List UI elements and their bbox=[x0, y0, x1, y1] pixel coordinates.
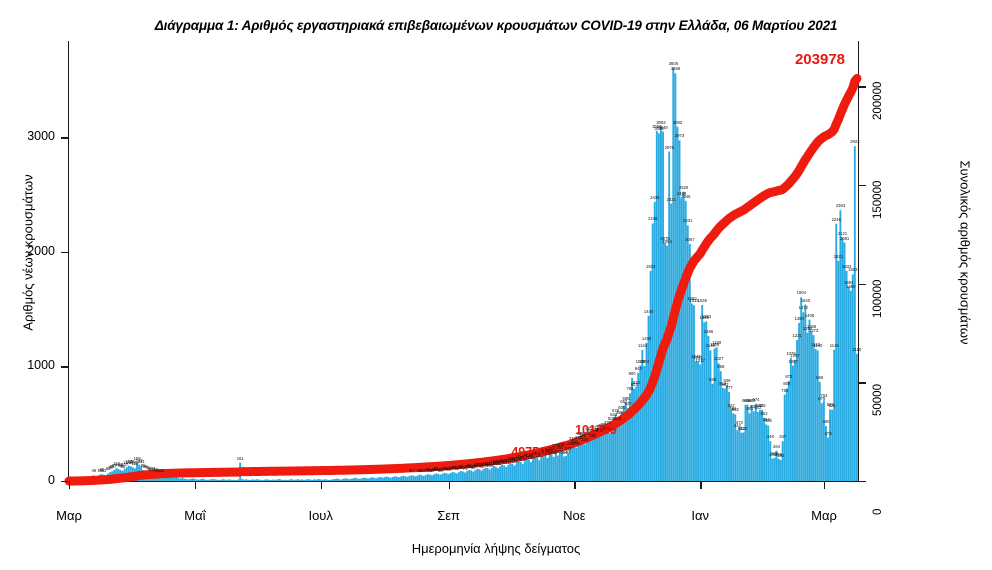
annotation-early-cases: 49750 bbox=[511, 445, 546, 459]
bar-value-label: 1206 bbox=[642, 337, 651, 341]
y-tick-mark-right bbox=[859, 284, 866, 285]
bar-value-label: 1604 bbox=[797, 291, 806, 295]
bar-value-label: 582 bbox=[732, 408, 739, 412]
bar-value-label: 264 bbox=[773, 445, 780, 449]
y-tick-mark-right bbox=[859, 481, 866, 482]
bar-value-label: 320 bbox=[581, 438, 588, 442]
bar-value-label: 1140 bbox=[813, 344, 822, 348]
bar-value-label: 552 bbox=[761, 412, 768, 416]
bar-value-label: 510 bbox=[614, 417, 621, 421]
bar-value-label: 1540 bbox=[801, 299, 810, 303]
bar-value-label: 1146 bbox=[830, 344, 839, 348]
bar-value-label: 161 bbox=[237, 457, 244, 461]
bar-value-label: 485 bbox=[765, 419, 772, 423]
y-tick-mark-left bbox=[61, 481, 68, 482]
y-tick-mark-left bbox=[61, 137, 68, 138]
bar-value-label: 2876 bbox=[665, 146, 674, 150]
bar-value-label: 2421 bbox=[667, 198, 676, 202]
bar-value-label: 808 bbox=[783, 382, 790, 386]
bar-value-label: 2525 bbox=[679, 186, 688, 190]
y-tick-mark-right bbox=[859, 382, 866, 383]
axis-line-bottom bbox=[68, 481, 859, 482]
bar-value-label: 2067 bbox=[685, 238, 694, 242]
bar-value-label: 1472 bbox=[799, 306, 808, 310]
cumulative-line-layer bbox=[68, 41, 858, 481]
bar-value-label: 1393 bbox=[702, 315, 711, 319]
axis-line-right bbox=[858, 41, 859, 482]
bar-value-label: 900 bbox=[629, 372, 636, 376]
y-tick-label-left: 2000 bbox=[9, 244, 55, 258]
x-axis-label: Ημερομηνία λήψης δείγματος bbox=[0, 541, 992, 556]
y-tick-mark-right bbox=[859, 86, 866, 87]
bar-value-label: 50 bbox=[409, 469, 414, 473]
bar-value-label: 873 bbox=[785, 375, 792, 379]
bar-value-label: 2246 bbox=[832, 218, 841, 222]
bar-value-label: 423 bbox=[740, 427, 747, 431]
bar-value-label: 765 bbox=[627, 387, 634, 391]
y-tick-label-right: 100000 bbox=[872, 279, 884, 317]
bar-value-label: 1231 bbox=[793, 334, 802, 338]
bar-value-label: 622 bbox=[759, 404, 766, 408]
bar-value-label: 600 bbox=[618, 406, 625, 410]
bar-value-label: 348 bbox=[767, 435, 774, 439]
bar-value-label: 1265 bbox=[704, 330, 713, 334]
bar-value-label: 2973 bbox=[675, 134, 684, 138]
y-tick-label-right: 200000 bbox=[872, 82, 884, 120]
bar-value-label: 1057 bbox=[790, 354, 799, 358]
bar-value-label: 958 bbox=[717, 365, 724, 369]
x-tick-mark bbox=[321, 481, 322, 489]
bar-value-label: 943 bbox=[635, 367, 642, 371]
y-tick-label-left: 1000 bbox=[9, 358, 55, 372]
x-tick-mark bbox=[195, 481, 196, 489]
bar-value-label: 290 bbox=[573, 442, 580, 446]
bar-value-label: 184 bbox=[777, 454, 784, 458]
bar-value-label: 777 bbox=[726, 386, 733, 390]
bar-value-label: 704 bbox=[821, 394, 828, 398]
bar-value-label: 2922 bbox=[850, 140, 859, 144]
y-tick-label-right: 150000 bbox=[872, 181, 884, 219]
bar-value-label: 1273 bbox=[809, 329, 818, 333]
bar-value-label: 2363 bbox=[836, 204, 845, 208]
bar-value-label: 824 bbox=[633, 381, 640, 385]
y-tick-label-right: 0 bbox=[872, 509, 884, 515]
x-tick-mark bbox=[574, 481, 575, 489]
bar-value-label: 2445 bbox=[681, 195, 690, 199]
bar-value-label: 2054 bbox=[663, 240, 672, 244]
bar-value-label: 836 bbox=[724, 379, 731, 383]
bar-value-label: 379 bbox=[825, 432, 832, 436]
bar-value-label: 754 bbox=[781, 389, 788, 393]
bar-value-label: 473 bbox=[736, 421, 743, 425]
x-tick-label: Νοε bbox=[539, 508, 609, 523]
plot-area: 4955605266788597112104968810712113412811… bbox=[68, 41, 858, 481]
bar-value-label: 1833 bbox=[646, 265, 655, 269]
bar-value-label: 560 bbox=[616, 411, 623, 415]
y-tick-mark-left bbox=[61, 366, 68, 367]
annotation-midpoint-cases: 101739 bbox=[575, 423, 617, 437]
bar-value-label: 1027 bbox=[714, 357, 723, 361]
bar-value-label: 1169 bbox=[712, 341, 721, 345]
bar-value-label: 1110 bbox=[853, 348, 862, 352]
bar-value-label: 3558 bbox=[671, 67, 680, 71]
bar-value-label: 1380 bbox=[795, 317, 804, 321]
bar-value-label: 2081 bbox=[840, 237, 849, 241]
x-tick-label: Μαρ bbox=[789, 508, 859, 523]
bar-value-label: 674 bbox=[752, 398, 759, 402]
annotation-total-cases: 203978 bbox=[795, 51, 845, 68]
bar-value-label: 1017 bbox=[696, 359, 705, 363]
y-tick-label-left: 0 bbox=[9, 473, 55, 487]
bar-value-label: 637 bbox=[625, 402, 632, 406]
bar-value-label: 55 bbox=[160, 469, 165, 473]
bar-value-label: 849 bbox=[709, 378, 716, 382]
bar-value-label: 1004 bbox=[640, 360, 649, 364]
bar-value-label: 2231 bbox=[683, 219, 692, 223]
x-tick-mark bbox=[700, 481, 701, 489]
y-tick-label-left: 3000 bbox=[9, 129, 55, 143]
x-tick-mark bbox=[824, 481, 825, 489]
bar-value-label: 347 bbox=[779, 435, 786, 439]
bar-value-label: 480 bbox=[823, 420, 830, 424]
y-tick-mark-right bbox=[859, 185, 866, 186]
y-tick-mark-left bbox=[61, 252, 68, 253]
x-tick-mark bbox=[449, 481, 450, 489]
bar-value-label: 2248 bbox=[648, 217, 657, 221]
bar-value-label: 1440 bbox=[644, 310, 653, 314]
x-tick-label: Μαρ bbox=[34, 508, 104, 523]
bar-value-label: 1408 bbox=[805, 314, 814, 318]
x-tick-label: Ιουλ bbox=[286, 508, 356, 523]
bar-value-label: 1803 bbox=[848, 268, 857, 272]
y-tick-label-right: 50000 bbox=[872, 384, 884, 416]
bar-value-label: 49 bbox=[91, 469, 96, 473]
x-tick-label: Σεπ bbox=[414, 508, 484, 523]
bar-value-label: 866 bbox=[816, 376, 823, 380]
bar-value-label: 2436 bbox=[650, 196, 659, 200]
bar-value-label: 3092 bbox=[673, 121, 682, 125]
y-axis-right-label: Συνολικός αριθμός κρουσμάτων bbox=[958, 33, 973, 473]
bar-value-label: 1144 bbox=[638, 344, 647, 348]
bar-value-label: 621 bbox=[829, 404, 836, 408]
bar-value-label: 1660 bbox=[846, 285, 855, 289]
bar-value-label: 1921 bbox=[834, 255, 843, 259]
page-title: Διάγραμμα 1: Αριθμός εργαστηριακά επιβεβ… bbox=[0, 18, 992, 33]
covid-epidemic-curve-chart: Διάγραμμα 1: Αριθμός εργαστηριακά επιβεβ… bbox=[0, 0, 992, 570]
bar-value-label: 1536 bbox=[698, 299, 707, 303]
x-tick-label: Μαΐ bbox=[160, 508, 230, 523]
x-tick-mark bbox=[69, 481, 70, 489]
bar-value-label: 3049 bbox=[658, 126, 667, 130]
bar-value-label: 1007 bbox=[788, 360, 797, 364]
x-tick-label: Ιαν bbox=[665, 508, 735, 523]
bar-value-label: 247 bbox=[565, 447, 572, 451]
